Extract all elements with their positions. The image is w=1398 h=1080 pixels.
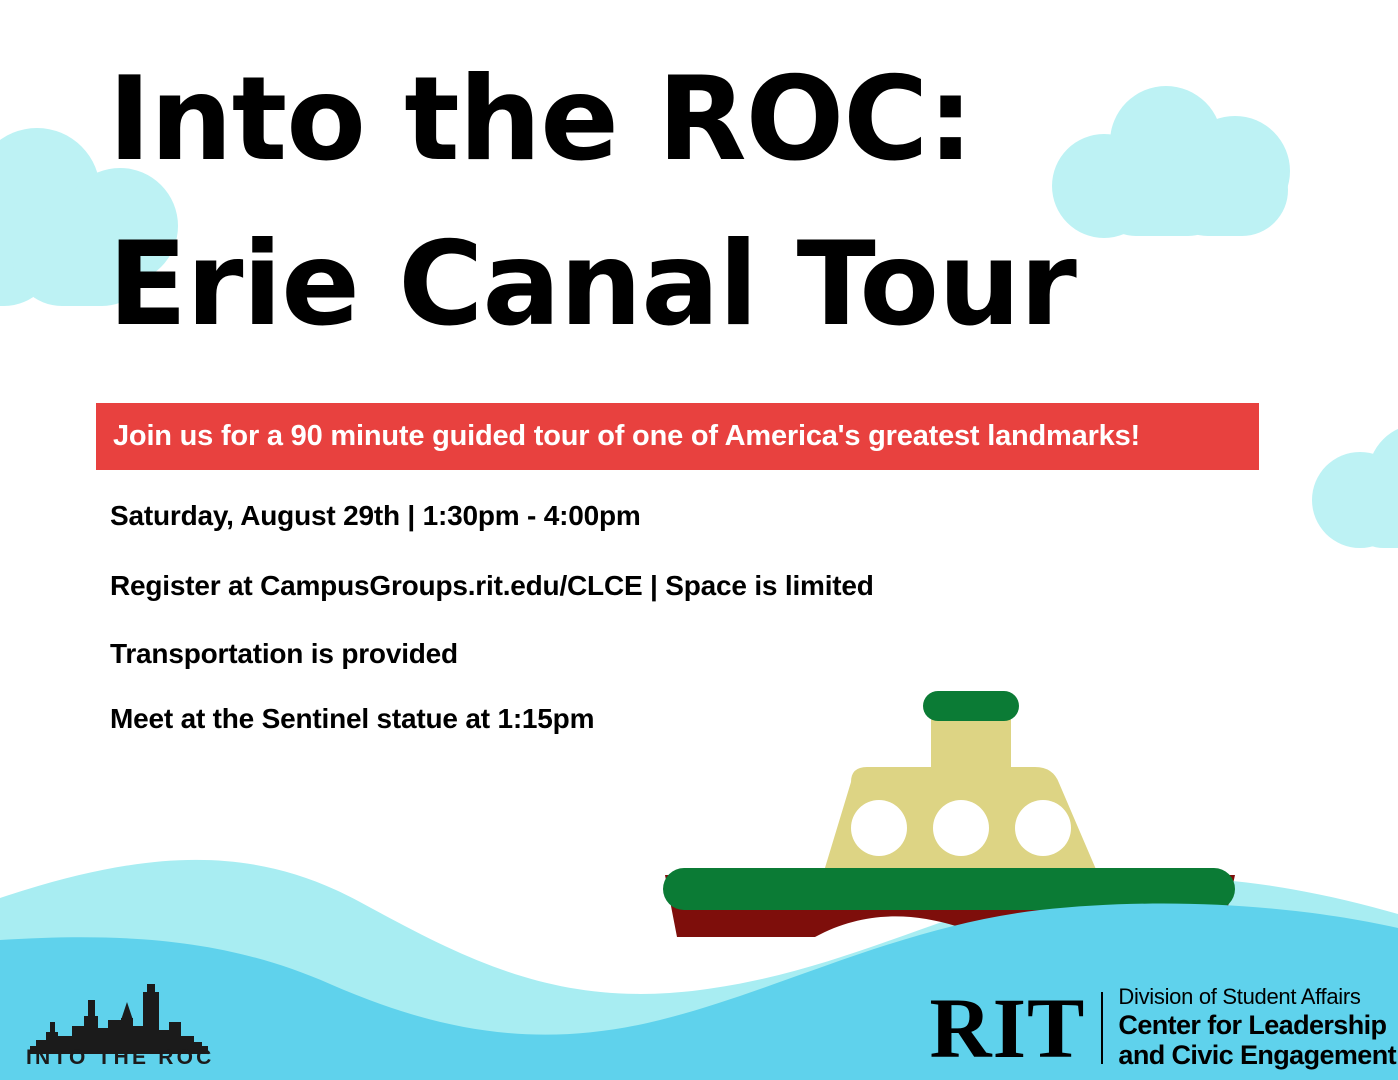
rit-wordmark: RIT — [929, 992, 1101, 1064]
detail-line-transportation: Transportation is provided — [110, 638, 1110, 670]
rit-logo: RIT Division of Student Affairs Center f… — [929, 984, 1398, 1072]
rit-center-label-line-2: and Civic Engagement — [1118, 1040, 1396, 1071]
poster-canvas: Into the ROC: Erie Canal Tour Join us fo… — [0, 0, 1398, 1080]
rit-center-label-line-1: Center for Leadership — [1118, 1010, 1396, 1041]
rit-logo-divider — [1101, 992, 1103, 1064]
detail-line-registration: Register at CampusGroups.rit.edu/CLCE | … — [110, 570, 1110, 602]
rit-division-label: Division of Student Affairs — [1118, 985, 1396, 1010]
highlight-banner: Join us for a 90 minute guided tour of o… — [96, 403, 1259, 470]
banner-text: Join us for a 90 minute guided tour of o… — [96, 420, 1140, 453]
roc-logo-label: INTO THE ROC — [26, 1046, 212, 1070]
cloud-icon-right-edge — [1312, 424, 1398, 559]
detail-line-date-time: Saturday, August 29th | 1:30pm - 4:00pm — [110, 500, 1110, 532]
page-title: Into the ROC: Erie Canal Tour — [108, 38, 1208, 367]
detail-line-meeting-point: Meet at the Sentinel statue at 1:15pm — [110, 703, 1110, 735]
rit-logo-lines: Division of Student Affairs Center for L… — [1118, 985, 1398, 1071]
event-details: Saturday, August 29th | 1:30pm - 4:00pm … — [110, 500, 1110, 735]
